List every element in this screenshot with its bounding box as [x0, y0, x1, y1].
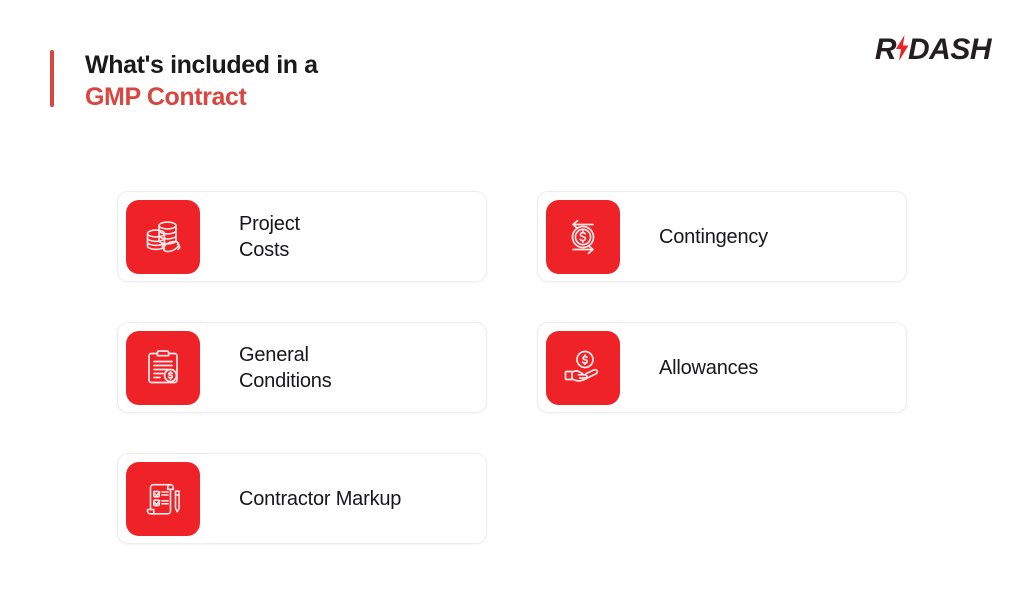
feature-card-label: Project Costs [239, 211, 300, 263]
feature-card-grid: Project Costs Contingency [0, 0, 1024, 614]
feature-card-label: Contingency [659, 224, 768, 250]
scroll-checklist-pen-icon [126, 462, 200, 536]
feature-card-allowances[interactable]: Allowances [537, 322, 907, 413]
feature-card-project-costs[interactable]: Project Costs [117, 191, 487, 282]
feature-card-label: Allowances [659, 355, 758, 381]
feature-card-general-conditions[interactable]: General Conditions [117, 322, 487, 413]
coin-stack-icon [126, 200, 200, 274]
money-cycle-icon [546, 200, 620, 274]
feature-card-contractor-markup[interactable]: Contractor Markup [117, 453, 487, 544]
feature-card-label: General Conditions [239, 342, 332, 394]
slide-canvas: What's included in a GMP Contract R DASH [0, 0, 1024, 614]
feature-card-label: Contractor Markup [239, 486, 401, 512]
clipboard-dollar-icon [126, 331, 200, 405]
feature-card-contingency[interactable]: Contingency [537, 191, 907, 282]
hand-holding-coin-icon [546, 331, 620, 405]
